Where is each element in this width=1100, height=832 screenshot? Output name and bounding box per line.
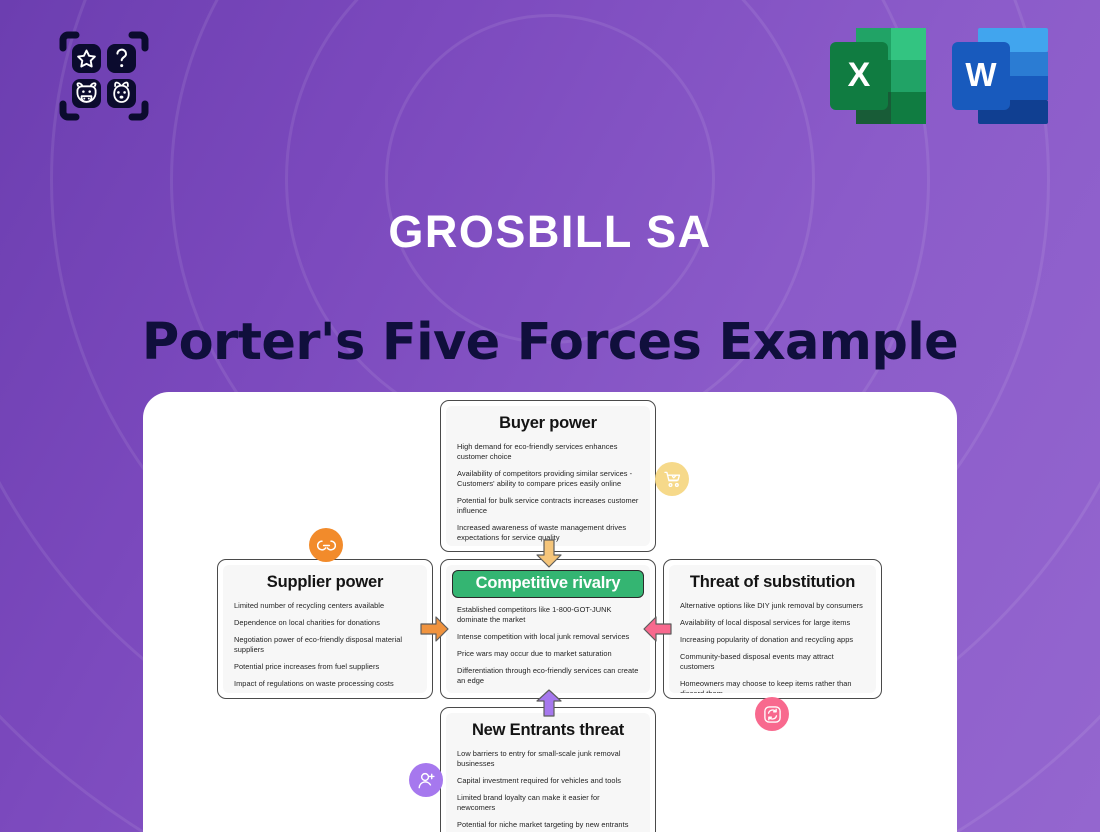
list-item: Availability of local disposal services … [680, 618, 865, 628]
list-item: Potential price increases from fuel supp… [234, 662, 416, 672]
quiz-logo[interactable] [56, 28, 152, 124]
force-box-new-entrants-threat[interactable]: New Entrants threat Low barriers to entr… [440, 707, 656, 832]
list-item: Low barriers to entry for small-scale ju… [457, 749, 639, 769]
list-item: Differentiation through eco-friendly ser… [457, 666, 639, 686]
svg-text:X: X [848, 56, 871, 94]
list-item: Price wars may occur due to market satur… [457, 649, 639, 659]
list-item: Increasing popularity of donation and re… [680, 635, 865, 645]
force-box-buyer[interactable]: Buyer power High demand for eco-friendly… [440, 400, 656, 552]
list-item: Potential for bulk service contracts inc… [457, 496, 639, 516]
list-item: Limited number of recycling centers avai… [234, 601, 416, 611]
office-icons-group: X W [830, 26, 1048, 126]
list-item: Limited brand loyalty can make it easier… [457, 793, 639, 813]
force-items-rivalry: Established competitors like 1-800-GOT-J… [457, 605, 639, 693]
force-items-buyer: High demand for eco-friendly services en… [457, 442, 639, 543]
excel-icon[interactable]: X [830, 26, 926, 126]
arrow-substitution-to-rivalry [642, 615, 672, 648]
company-name: GROSBILL SA [0, 206, 1100, 258]
force-items-threat-of-substitution: Alternative options like DIY junk remova… [680, 601, 865, 693]
list-item: High demand for eco-friendly services en… [457, 442, 639, 462]
list-item: Potential for niche market targeting by … [457, 820, 639, 830]
list-item: Impact of regulations on waste processin… [234, 679, 416, 689]
force-box-rivalry[interactable]: Competitive rivalry Established competit… [440, 559, 656, 699]
force-items-supplier: Limited number of recycling centers avai… [234, 601, 416, 689]
slide-canvas: X W GROSBILL SA Porter's Five Forces Exa… [0, 0, 1100, 832]
logo-tile-dog [107, 79, 136, 108]
list-item: Availability of competitors providing si… [457, 469, 639, 489]
force-box-threat-of-substitution[interactable]: Threat of substitution Alternative optio… [663, 559, 882, 699]
arrow-entrants-to-rivalry [535, 689, 563, 722]
list-item: Community-based disposal events may attr… [680, 652, 865, 672]
list-item: Established competitors like 1-800-GOT-J… [457, 605, 639, 625]
logo-tile-cow [72, 79, 101, 108]
list-item: Homeowners may choose to keep items rath… [680, 679, 865, 693]
word-icon[interactable]: W [952, 26, 1048, 126]
shopping-cart-icon[interactable] [655, 462, 689, 496]
force-title-new-entrants-threat: New Entrants threat [457, 721, 639, 740]
list-item: Capital investment required for vehicles… [457, 776, 639, 786]
force-title-threat-of-substitution: Threat of substitution [680, 573, 865, 592]
svg-text:W: W [965, 56, 997, 93]
add-user-icon[interactable] [409, 763, 443, 797]
force-title-supplier: Supplier power [234, 573, 416, 592]
force-title-buyer: Buyer power [457, 414, 639, 433]
page-title: Porter's Five Forces Example [0, 313, 1100, 372]
diagram-card: Buyer power High demand for eco-friendly… [143, 392, 957, 832]
porters-five-forces-diagram: Buyer power High demand for eco-friendly… [143, 392, 957, 832]
link-icon[interactable] [309, 528, 343, 562]
force-title-rivalry: Competitive rivalry [452, 570, 644, 598]
force-box-supplier[interactable]: Supplier power Limited number of recycli… [217, 559, 433, 699]
list-item: Alternative options like DIY junk remova… [680, 601, 865, 611]
sync-icon[interactable] [755, 697, 789, 731]
list-item: Intense competition with local junk remo… [457, 632, 639, 642]
list-item: Dependence on local charities for donati… [234, 618, 416, 628]
logo-tile-star [72, 44, 101, 73]
list-item: Negotiation power of eco-friendly dispos… [234, 635, 416, 655]
arrow-buyer-to-rivalry [535, 539, 563, 574]
force-items-new-entrants-threat: Low barriers to entry for small-scale ju… [457, 749, 639, 832]
arrow-supplier-to-rivalry [420, 615, 450, 648]
